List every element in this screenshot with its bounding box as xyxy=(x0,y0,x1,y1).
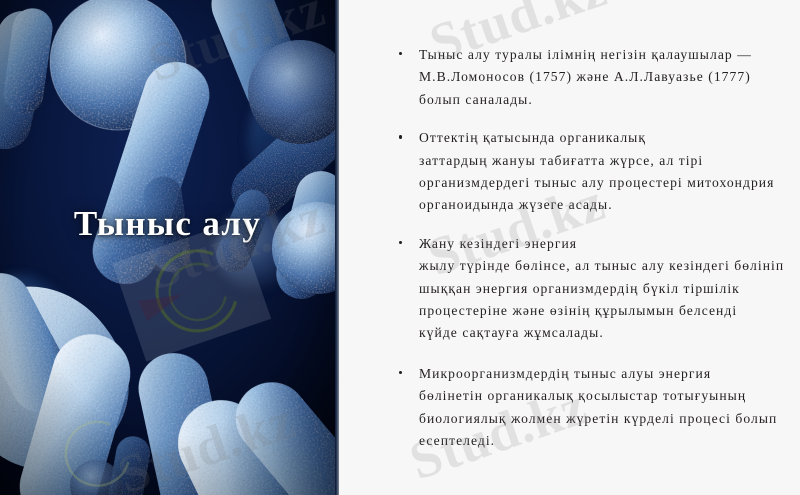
bullet-line: заттардың жануы табиғатта жүрсе, ал тірі xyxy=(419,150,784,172)
page-title: Тыныс алу xyxy=(0,203,335,245)
list-item: Тыныс алу туралы ілімнің негізін қалаушы… xyxy=(397,44,784,111)
presentation-slide: Тыныс алу Тыныс алу туралы ілімнің негіз… xyxy=(0,0,800,495)
bullet-line: биологиялық жолмен жүретін күрделі проце… xyxy=(419,408,784,430)
bullet-line: организмдердегі тыныс алу процестері мит… xyxy=(419,172,784,194)
bacteria-microscopy-illustration xyxy=(0,0,339,495)
bullet-line: есептеледі. xyxy=(419,430,784,452)
bullet-line: Микроорганизмдердің тыныс алуы энергия xyxy=(419,363,784,385)
bullet-dot-icon xyxy=(399,135,402,138)
bacteria-image-panel: Тыныс алу xyxy=(0,0,339,495)
bullet-line: процестеріне және өзінің құрылымын белсе… xyxy=(419,300,784,322)
content-panel: Тыныс алу туралы ілімнің негізін қалаушы… xyxy=(339,0,800,495)
bullet-line: жылу түрінде бөлінсе, ал тыныс алу кезін… xyxy=(419,255,784,277)
bullet-line: шыққан энергия организмдердің бүкіл тірш… xyxy=(419,278,784,300)
list-item: Микроорганизмдердің тыныс алуы энергия б… xyxy=(397,363,784,453)
bullet-line: Тыныс алу туралы ілімнің негізін қалаушы… xyxy=(419,44,784,66)
bullet-line: Оттектің қатысында органикалық xyxy=(419,127,784,149)
bullet-dot-icon xyxy=(399,371,402,374)
bullet-line: бөлінетін органикалық қосылыстар тотығуы… xyxy=(419,385,784,407)
list-item: Оттектің қатысында органикалық заттардың… xyxy=(397,127,784,217)
list-item: Жану кезіндегі энергия жылу түрінде бөлі… xyxy=(397,233,784,345)
bullet-dot-icon xyxy=(399,52,402,55)
bullet-dot-icon xyxy=(399,241,402,244)
bullet-line: күйде сақтауға жұмсалады. xyxy=(419,322,784,344)
bullet-list: Тыныс алу туралы ілімнің негізін қалаушы… xyxy=(397,44,784,453)
bullet-line: органоидында жүзеге асады. xyxy=(419,194,784,216)
bullet-line: М.В.Ломоносов (1757) және А.Л.Лавуазье (… xyxy=(419,66,784,88)
bullet-line: Жану кезіндегі энергия xyxy=(419,233,784,255)
bullet-line: болып саналады. xyxy=(419,89,784,111)
